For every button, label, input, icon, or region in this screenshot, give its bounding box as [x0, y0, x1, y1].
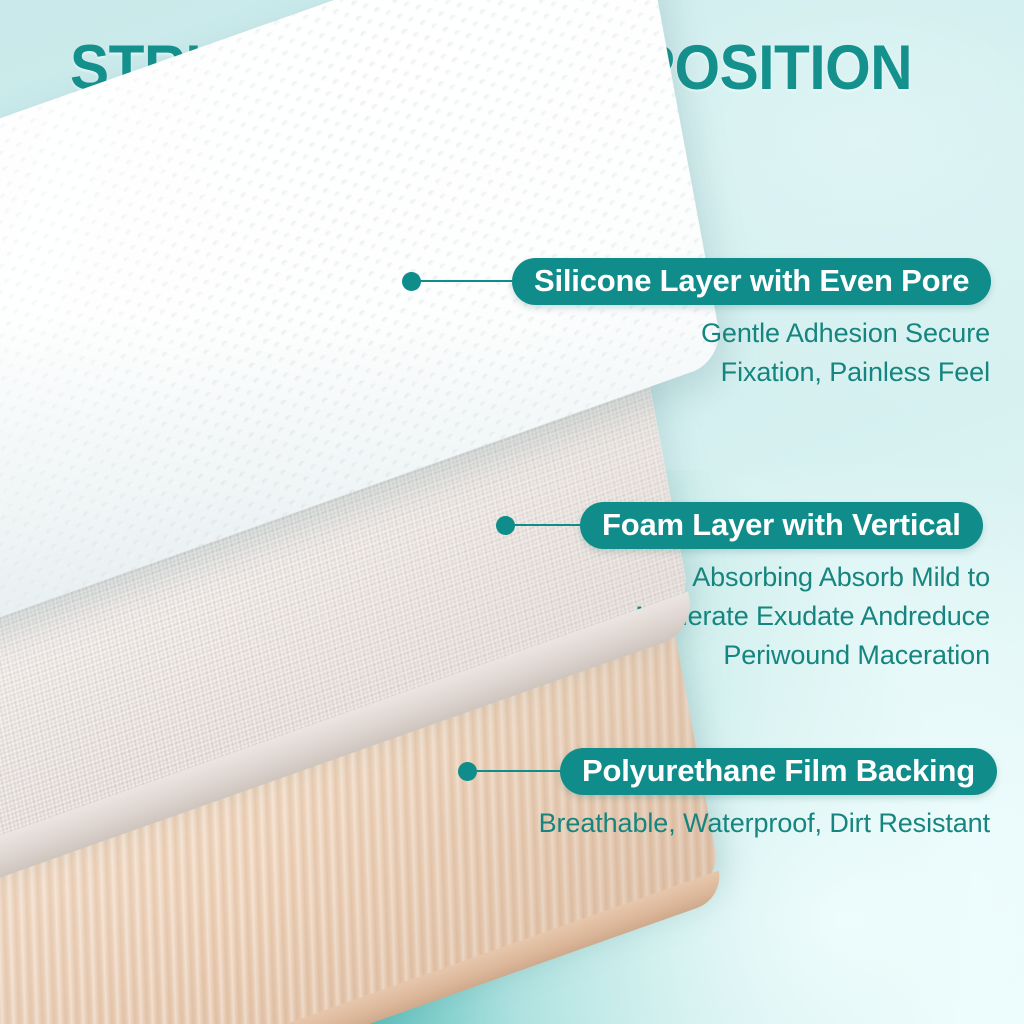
layer-description-silicone: Gentle Adhesion Secure Fixation, Painles… [560, 314, 990, 392]
connector-line-silicone [418, 280, 524, 282]
layer-label-foam[interactable]: Foam Layer with Vertical [580, 502, 983, 549]
infographic-stage: STRUCTURE & COMPOSITION Silicone L [0, 0, 1024, 1024]
layer-description-film: Breathable, Waterproof, Dirt Resistant [520, 804, 990, 843]
layer-description-foam: Absorbing Absorb Mild to Moderate Exudat… [540, 558, 990, 675]
connector-line-film [474, 770, 574, 772]
layer-label-film[interactable]: Polyurethane Film Backing [560, 748, 997, 795]
layer-label-silicone[interactable]: Silicone Layer with Even Pore [512, 258, 991, 305]
